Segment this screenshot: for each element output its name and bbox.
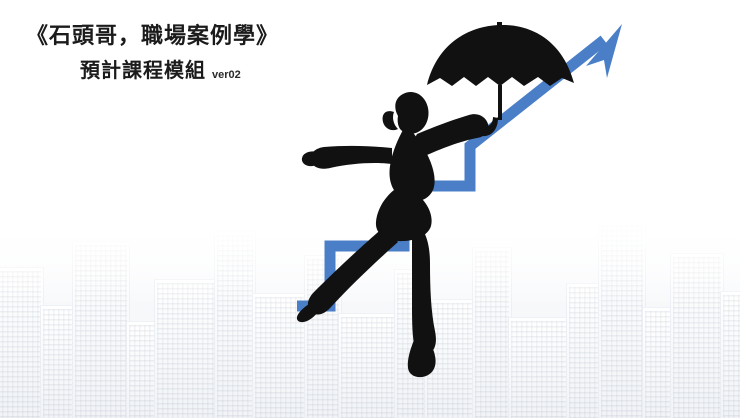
poster-title-block: 《石頭哥，職場案例學》 預計課程模組 ver02 <box>26 22 279 83</box>
page-subtitle-row: 預計課程模組 ver02 <box>80 54 279 83</box>
page-title: 《石頭哥，職場案例學》 <box>26 22 279 50</box>
poster-canvas: 《石頭哥，職場案例學》 預計課程模組 ver02 <box>0 0 740 418</box>
page-subtitle: 預計課程模組 <box>80 54 206 83</box>
version-label: ver02 <box>212 69 241 83</box>
